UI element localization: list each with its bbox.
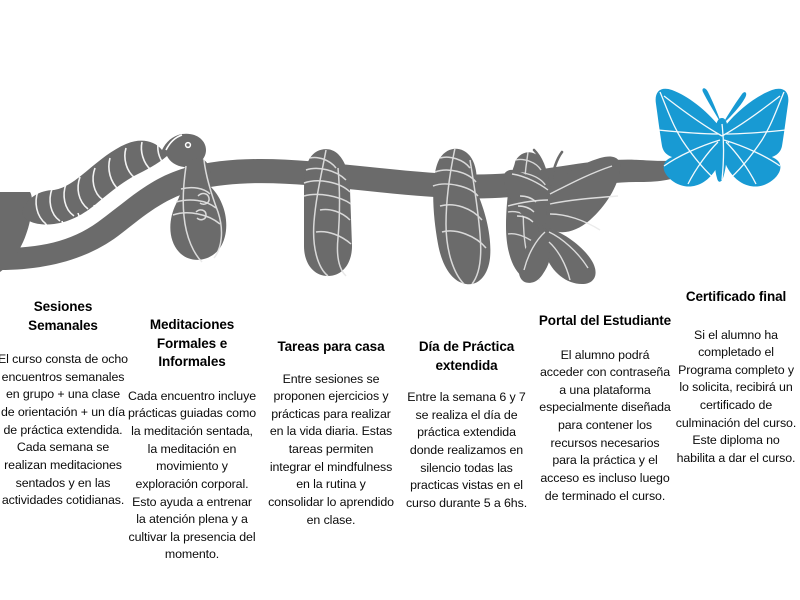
stage-column-sesiones-semanales: Sesiones Semanales El curso consta de oc… — [0, 298, 128, 510]
stage-column-meditaciones-formales-e-informales: Meditaciones Formales e Informales Cada … — [128, 316, 256, 564]
stage-column-tareas-para-casa: Tareas para casa Entre sesiones se propo… — [268, 338, 394, 529]
stage-title: Certificado final — [672, 288, 800, 307]
stage-column-dia-de-practica-extendida: Día de Práctica extendida Entre la seman… — [400, 338, 533, 513]
chrysalis-late-shape — [433, 148, 490, 284]
stage-body: El curso consta de ocho encuentros seman… — [0, 351, 128, 509]
stage-body: Cada encuentro incluye prácticas guiadas… — [128, 388, 256, 564]
stage-title: Meditaciones Formales e Informales — [128, 316, 256, 372]
stage-title: Sesiones Semanales — [0, 298, 128, 335]
stage-title: Día de Práctica extendida — [400, 338, 533, 375]
stage-column-certificado-final: Certificado final Si el alumno ha comple… — [672, 288, 800, 468]
metamorphosis-illustration — [0, 0, 800, 290]
stage-body: Entre la semana 6 y 7 se realiza el día … — [400, 389, 533, 512]
butterfly-final-shape — [656, 88, 789, 186]
stage-body: El alumno podrá acceder con contraseña a… — [538, 347, 672, 505]
chrysalis-forming-shape — [304, 149, 352, 276]
stage-body: Entre sesiones se proponen ejercicios y … — [268, 371, 394, 529]
stage-body: Si el alumno ha completado el Programa c… — [672, 327, 800, 468]
stage-column-portal-del-estudiante: Portal del Estudiante El alumno podrá ac… — [538, 312, 672, 505]
stage-title: Tareas para casa — [268, 338, 394, 357]
stage-title: Portal del Estudiante — [538, 312, 672, 331]
infographic-canvas: Sesiones Semanales El curso consta de oc… — [0, 0, 800, 600]
